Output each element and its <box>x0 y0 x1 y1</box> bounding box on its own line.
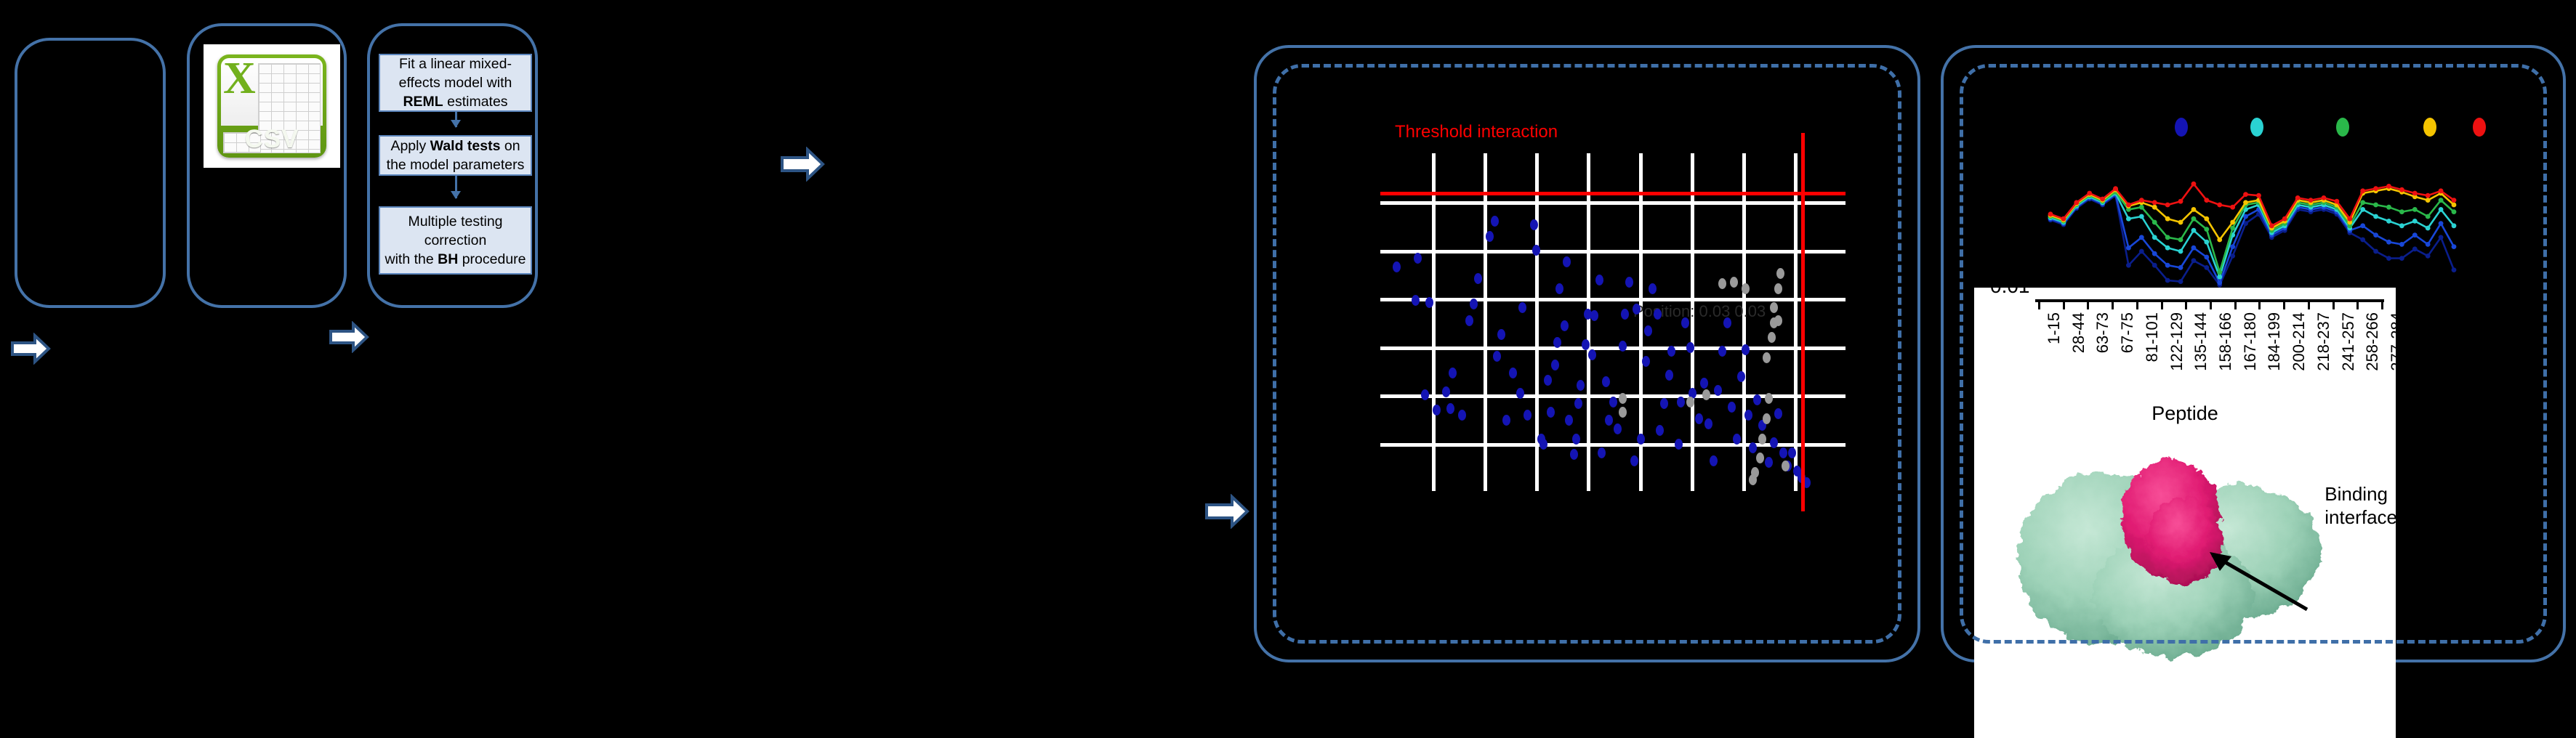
scatter-point <box>1574 398 1582 409</box>
legend-dot <box>2423 118 2436 137</box>
profile-marker <box>2139 249 2144 254</box>
scatter-point <box>1524 410 1531 421</box>
profile-marker <box>2061 216 2066 222</box>
scatter-point <box>1779 447 1787 458</box>
profile-marker <box>2452 223 2457 228</box>
profile-marker <box>2439 198 2444 203</box>
axis-tick-label: 184-199 <box>2265 312 2284 371</box>
scatter-point <box>1656 425 1664 436</box>
scatter-point <box>1763 413 1771 424</box>
scatter-point <box>1630 455 1638 466</box>
scatter-point <box>1667 346 1675 357</box>
profile-marker <box>2074 200 2079 205</box>
scatter-point <box>1539 439 1547 450</box>
profile-marker <box>2439 235 2444 240</box>
profile-marker <box>2126 246 2131 251</box>
axis-tick <box>2063 299 2065 309</box>
axis-tick <box>2087 299 2089 309</box>
profile-marker <box>2360 207 2365 212</box>
profile-marker <box>2426 214 2431 219</box>
axis-tick <box>2210 299 2212 309</box>
scatter-point <box>1718 278 1726 289</box>
profile-marker <box>2126 203 2131 208</box>
scatter-point <box>1710 455 1718 466</box>
scatter-point <box>1749 442 1757 453</box>
profile-marker <box>2386 205 2391 210</box>
binding-interface-label: Binding interface <box>2325 482 2396 529</box>
profile-marker <box>2399 209 2404 214</box>
profile-marker <box>2126 216 2131 222</box>
scatter-point <box>1532 245 1540 256</box>
scatter-point <box>1425 297 1433 308</box>
scatter-point <box>1737 371 1745 382</box>
scatter-chart: Threshold interaction Threshold state Po… <box>1300 99 1875 564</box>
scatter-point <box>1782 461 1790 471</box>
grid-line-horizontal <box>1380 346 1846 350</box>
axis-tick <box>2234 299 2237 309</box>
profile-marker <box>2178 265 2183 270</box>
scatter-point <box>1702 389 1710 400</box>
scatter-point <box>1565 415 1573 426</box>
scatter-point <box>1590 310 1598 321</box>
grid-line-horizontal <box>1380 250 1846 254</box>
profile-marker <box>2204 240 2209 245</box>
axis-tick-label: 241-257 <box>2339 312 2358 371</box>
profile-marker <box>2373 249 2378 254</box>
peptide-profile-chart <box>1974 150 2541 295</box>
csv-file-icon: X CSV <box>204 44 340 168</box>
threshold-state-line <box>1801 133 1805 511</box>
scatter-point <box>1465 315 1473 326</box>
profile-marker <box>2139 214 2144 219</box>
profile-marker <box>2139 198 2144 203</box>
profile-marker <box>2360 238 2365 243</box>
scatter-point <box>1577 380 1585 391</box>
profile-marker <box>2048 211 2053 216</box>
arrow-csv-to-stats-icon <box>329 321 369 353</box>
scatter-point <box>1493 351 1501 362</box>
panel-peptide-stage: 0.01 1-1528-4463-7367-7581-101122-129135… <box>1941 45 2566 662</box>
threshold-interaction-label: Threshold interaction <box>1395 122 1558 142</box>
axis-tick-label: 135-144 <box>2191 312 2210 371</box>
peptide-y-axis-label: 0.01 <box>1990 288 2030 298</box>
profile-marker <box>2217 280 2222 285</box>
profile-marker <box>2152 263 2157 268</box>
panel-scatter-stage: Threshold interaction Threshold state Po… <box>1254 45 1920 662</box>
scatter-point <box>1730 277 1738 288</box>
profile-marker <box>2452 203 2457 208</box>
panel-statistics-stage: Fit a linear mixed-effects model withREM… <box>367 23 538 308</box>
profile-marker <box>2087 191 2092 196</box>
profile-marker <box>2165 263 2170 268</box>
axis-tick-label: 28-44 <box>2069 312 2088 353</box>
scatter-point <box>1605 415 1613 426</box>
scatter-point <box>1486 231 1494 242</box>
scatter-point <box>1723 317 1731 328</box>
peptide-axis-and-structure-card: 0.01 1-1528-4463-7367-7581-101122-129135… <box>1974 288 2396 738</box>
profile-marker <box>2399 223 2404 228</box>
scatter-point <box>1614 423 1622 434</box>
scatter-point <box>1700 378 1708 389</box>
multiple-testing-step: Multiple testingcorrectionwith the BH pr… <box>379 206 532 275</box>
profile-marker <box>2230 205 2235 210</box>
scatter-point <box>1718 346 1726 357</box>
scatter-point <box>1551 360 1559 370</box>
profile-marker <box>2204 198 2209 203</box>
profile-marker <box>2412 246 2418 251</box>
legend-dot <box>2175 118 2188 137</box>
profile-marker <box>2126 263 2131 268</box>
axis-tick <box>2381 299 2383 309</box>
axis-tick <box>2333 299 2335 309</box>
profile-line <box>2050 193 2454 277</box>
profile-marker <box>2113 186 2118 191</box>
axis-tick <box>2161 299 2163 309</box>
scatter-point <box>1774 408 1782 419</box>
scatter-point <box>1588 349 1596 360</box>
axis-tick <box>2136 299 2138 309</box>
profile-marker <box>2386 256 2391 261</box>
profile-marker <box>2204 227 2209 232</box>
scatter-point <box>1518 302 1526 313</box>
profile-marker <box>2191 216 2197 222</box>
scatter-point <box>1677 397 1685 407</box>
scatter-point <box>1686 397 1694 407</box>
scatter-point <box>1644 325 1652 336</box>
profile-line <box>2050 192 2454 272</box>
scatter-point <box>1602 376 1610 387</box>
scatter-point <box>1619 407 1627 418</box>
profile-marker <box>2399 187 2404 192</box>
profile-marker <box>2452 267 2457 272</box>
profile-marker <box>2230 226 2235 231</box>
axis-tick-label: 81-101 <box>2143 312 2162 362</box>
scatter-point <box>1774 283 1782 294</box>
scatter-point <box>1728 402 1736 413</box>
scatter-point <box>1609 397 1617 407</box>
profile-marker <box>2165 216 2170 222</box>
scatter-point <box>1681 317 1689 328</box>
axis-tick-label: 218-237 <box>2314 312 2333 371</box>
scatter-plot-area: Position: 0.03 0.03 <box>1380 153 1846 491</box>
profile-marker <box>2139 205 2144 210</box>
profile-marker <box>2322 195 2327 200</box>
scatter-point <box>1768 332 1776 343</box>
scatter-point <box>1765 393 1773 404</box>
scatter-point <box>1619 393 1627 404</box>
profile-marker <box>2412 219 2418 224</box>
profile-marker <box>2386 240 2391 245</box>
profile-marker <box>2243 192 2248 197</box>
scatter-point <box>1572 434 1580 445</box>
profile-marker <box>2100 197 2105 202</box>
profile-marker <box>2217 269 2222 275</box>
scatter-point <box>1555 283 1563 294</box>
profile-marker <box>2373 186 2378 191</box>
scatter-point <box>1530 219 1538 230</box>
legend-dot <box>2473 118 2486 137</box>
axis-tick-label: 200-214 <box>2290 312 2309 371</box>
axis-tick <box>2308 299 2310 309</box>
grid-line-horizontal <box>1380 298 1846 301</box>
profile-marker <box>2386 184 2391 189</box>
profile-marker <box>2373 203 2378 208</box>
scatter-point <box>1625 277 1633 288</box>
profile-marker <box>2165 246 2170 251</box>
scatter-point <box>1675 439 1683 450</box>
protein-structure-image <box>1995 431 2358 671</box>
profile-marker <box>2178 220 2183 225</box>
connector-arrow-1 <box>455 112 457 127</box>
scatter-point <box>1714 385 1722 396</box>
profile-marker <box>2334 199 2339 204</box>
fit-model-step: Fit a linear mixed-effects model withREM… <box>379 54 532 112</box>
scatter-point <box>1665 370 1673 381</box>
profile-marker <box>2373 232 2378 238</box>
axis-tick <box>2356 299 2359 309</box>
scatter-point <box>1744 410 1752 421</box>
profile-marker <box>2426 254 2431 259</box>
profile-marker <box>2439 221 2444 226</box>
profile-marker <box>2191 182 2197 187</box>
profile-marker <box>2178 199 2183 204</box>
scatter-point <box>1774 315 1782 326</box>
axis-tick <box>2038 299 2040 309</box>
axis-tick-label: 277-284 <box>2388 312 2396 371</box>
axis-tick-label: 167-180 <box>2241 312 2260 371</box>
axis-tick <box>2283 299 2285 309</box>
scatter-point <box>1474 273 1482 284</box>
scatter-point <box>1433 405 1441 415</box>
panel-input-stage <box>15 38 166 308</box>
profile-marker <box>2178 238 2183 243</box>
scatter-point <box>1642 356 1650 367</box>
profile-marker <box>2152 200 2157 205</box>
scatter-point <box>1497 329 1505 340</box>
profile-marker <box>2204 265 2209 270</box>
scatter-point <box>1788 447 1796 458</box>
profile-marker <box>2204 255 2209 260</box>
scatter-point <box>1561 320 1569 331</box>
scatter-point <box>1470 299 1478 309</box>
peptide-legend <box>1944 118 2563 139</box>
legend-dot <box>2336 118 2349 137</box>
scatter-point <box>1458 410 1466 421</box>
scatter-point <box>1704 418 1712 429</box>
grid-line-horizontal <box>1380 201 1846 205</box>
profile-marker <box>2426 198 2431 203</box>
profile-marker <box>2178 249 2183 254</box>
profile-marker <box>2452 198 2457 203</box>
profile-marker <box>2191 207 2197 212</box>
axis-tick <box>2258 299 2261 309</box>
scatter-point <box>1770 302 1778 313</box>
axis-tick <box>2112 299 2114 309</box>
profile-marker <box>2399 242 2404 247</box>
scatter-point <box>1695 413 1703 424</box>
panel-csv-stage: X CSV <box>187 23 347 308</box>
scatter-point <box>1619 341 1627 352</box>
scatter-point <box>1595 275 1603 285</box>
profile-marker <box>2165 278 2170 283</box>
profile-marker <box>2360 200 2365 205</box>
scatter-point <box>1621 309 1629 320</box>
profile-marker <box>2373 214 2378 219</box>
scatter-point <box>1414 253 1422 264</box>
scatter-point <box>1449 368 1457 378</box>
profile-marker <box>2347 216 2352 222</box>
csv-icon-label: CSV <box>217 123 326 156</box>
profile-marker <box>2386 219 2391 224</box>
profile-marker <box>2165 235 2170 240</box>
profile-marker <box>2152 220 2157 225</box>
axis-tick-label: 1-15 <box>2045 312 2064 344</box>
profile-marker <box>2412 232 2418 238</box>
profile-marker <box>2282 216 2287 222</box>
scatter-point <box>1660 398 1668 409</box>
profile-marker <box>2426 193 2431 198</box>
profile-marker <box>2360 223 2365 228</box>
profile-marker <box>2191 228 2197 233</box>
axis-tick-label: 158-166 <box>2216 312 2235 371</box>
scatter-point <box>1763 352 1771 363</box>
scatter-point <box>1654 309 1662 320</box>
scatter-point <box>1547 407 1555 418</box>
profile-marker <box>2452 244 2457 249</box>
profile-marker <box>2360 188 2365 193</box>
scatter-point <box>1753 394 1761 405</box>
profile-marker <box>2412 191 2418 196</box>
profile-marker <box>2412 207 2418 212</box>
scatter-point <box>1509 368 1517 378</box>
scatter-point <box>1563 256 1571 267</box>
scatter-point <box>1421 389 1429 400</box>
profile-marker <box>2295 195 2301 200</box>
profile-marker <box>2243 200 2248 205</box>
arrow-start-icon <box>10 333 51 365</box>
wald-tests-step: Apply Wald tests onthe model parameters <box>379 135 532 176</box>
axis-tick <box>2185 299 2187 309</box>
peptide-axis-caption: Peptide <box>1974 402 2396 425</box>
arrow-into-fit-model-icon <box>780 147 825 182</box>
profile-marker <box>2217 203 2222 208</box>
profile-marker <box>2230 220 2235 225</box>
scatter-point <box>1733 434 1741 445</box>
scatter-point <box>1570 449 1578 460</box>
profile-marker <box>2165 203 2170 208</box>
connector-arrow-2 <box>455 176 457 198</box>
profile-marker <box>2217 238 2222 243</box>
axis-tick-label: 63-73 <box>2093 312 2112 353</box>
profile-marker <box>2256 193 2261 198</box>
scatter-point <box>1502 415 1510 426</box>
scatter-point <box>1598 447 1606 458</box>
scatter-point <box>1765 457 1773 468</box>
axis-tick-label: 67-75 <box>2118 312 2137 353</box>
scatter-point <box>1412 295 1420 306</box>
scatter-point <box>1491 216 1499 227</box>
threshold-interaction-line <box>1380 192 1846 195</box>
profile-marker <box>2139 235 2144 240</box>
profile-marker <box>2152 235 2157 240</box>
profile-marker <box>2204 216 2209 222</box>
scatter-point <box>1442 386 1450 397</box>
legend-dot <box>2250 118 2263 137</box>
scatter-point <box>1649 283 1657 294</box>
csv-icon-letter: X <box>223 56 256 101</box>
profile-marker <box>2399 256 2404 261</box>
profile-marker <box>2439 207 2444 212</box>
scatter-point <box>1756 453 1764 463</box>
scatter-point <box>1742 344 1750 355</box>
profile-marker <box>2152 205 2157 210</box>
profile-marker <box>2178 279 2183 284</box>
profile-marker <box>2152 251 2157 256</box>
scatter-point <box>1446 403 1454 414</box>
scatter-point <box>1544 375 1552 386</box>
scatter-point <box>1686 342 1694 353</box>
scatter-point <box>1776 268 1784 279</box>
profile-marker <box>2439 188 2444 193</box>
profile-marker <box>2191 258 2197 263</box>
profile-marker <box>2452 209 2457 214</box>
scatter-point <box>1742 283 1750 294</box>
profile-marker <box>2230 244 2235 249</box>
profile-marker <box>2426 226 2431 231</box>
profile-marker <box>2309 198 2314 203</box>
arrow-stats-to-scatter-icon <box>1204 494 1249 529</box>
scatter-point <box>1751 467 1759 478</box>
scatter-point <box>1582 339 1590 350</box>
axis-tick-label: 258-266 <box>2363 312 2382 371</box>
axis-tick-label: 122-129 <box>2168 312 2186 371</box>
scatter-point <box>1758 434 1766 445</box>
scatter-point <box>1393 261 1401 272</box>
profile-marker <box>2269 223 2274 228</box>
profile-marker <box>2426 242 2431 247</box>
scatter-point <box>1770 437 1778 448</box>
profile-marker <box>2191 246 2197 251</box>
scatter-point <box>1633 304 1641 315</box>
